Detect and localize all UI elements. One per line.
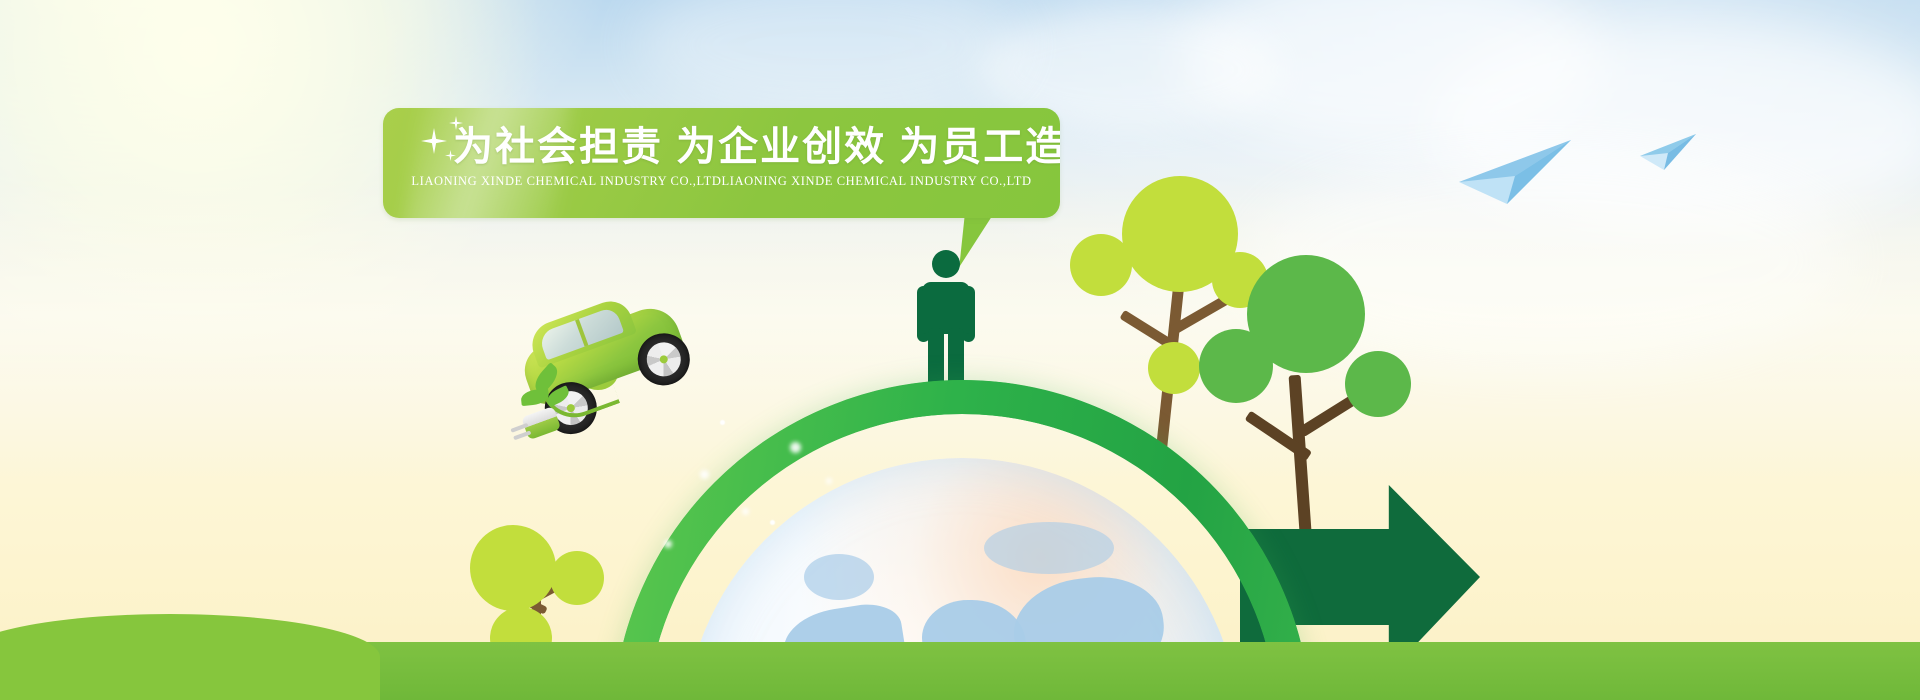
power-plug-icon <box>506 396 574 448</box>
banner-stage: 为社会担责 为企业创效 为员工造福 LIAONING XINDE CHEMICA… <box>0 0 1920 700</box>
person-leg-right <box>948 328 964 386</box>
tree-foliage <box>1070 234 1132 296</box>
person-leg-left <box>928 328 944 386</box>
person-pictogram-icon <box>914 250 978 386</box>
continent <box>984 522 1114 574</box>
tree-foliage <box>470 525 556 611</box>
sparkle-dot <box>826 478 832 484</box>
company-name-en: LIAONING XINDE CHEMICAL INDUSTRY CO.,LTD… <box>387 174 1056 189</box>
headline-banner: 为社会担责 为企业创效 为员工造福 LIAONING XINDE CHEMICA… <box>383 108 1060 218</box>
sparkle-dot <box>770 520 775 525</box>
tree-foliage <box>550 551 604 605</box>
sparkle-dot <box>790 442 801 453</box>
ground-hill <box>0 614 380 700</box>
wheel-hub <box>642 338 686 382</box>
paper-plane-icon <box>1638 128 1698 177</box>
cloud <box>640 0 1020 120</box>
page-title: 为社会担责 为企业创效 为员工造福 <box>453 120 1060 174</box>
paper-plane-icon <box>1455 130 1575 215</box>
sparkle-dot <box>664 540 672 548</box>
sparkle-icon <box>421 128 447 154</box>
sparkle-dot <box>742 508 749 515</box>
sparkle-dot <box>700 470 709 479</box>
continent <box>804 554 874 600</box>
person-torso <box>922 282 970 334</box>
sparkle-dot <box>720 420 725 425</box>
tree-foliage <box>1345 351 1411 417</box>
person-head <box>932 250 960 278</box>
